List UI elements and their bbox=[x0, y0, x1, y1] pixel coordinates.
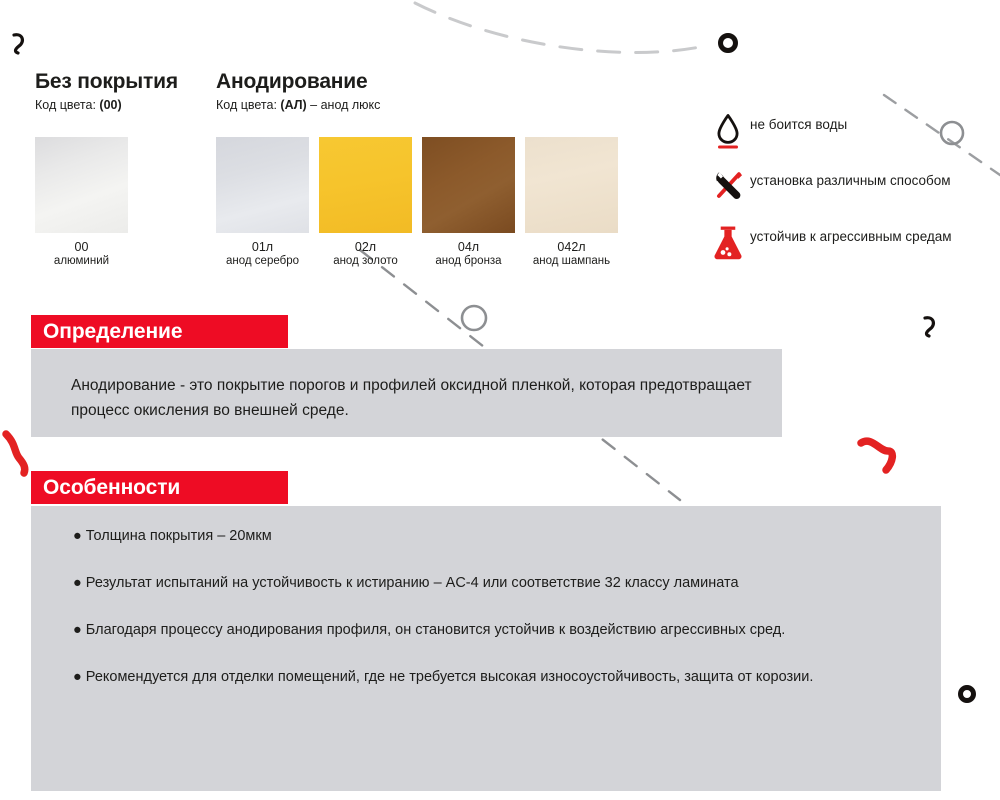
swatch-code: 02л bbox=[319, 240, 412, 254]
dashed-curve-top bbox=[415, 3, 700, 53]
squiggle-top-left bbox=[14, 35, 22, 53]
swatch-item-02l[interactable]: 02л анод золото bbox=[319, 137, 412, 267]
ring-outline-middle bbox=[462, 306, 486, 330]
flask-icon bbox=[706, 220, 750, 264]
group-code-prefix: Код цвета: bbox=[35, 98, 99, 112]
group-heading-anodizing: Анодирование Код цвета: (АЛ) – анод люкс bbox=[216, 70, 380, 112]
panel-definition: Анодирование - это покрытие порогов и пр… bbox=[31, 349, 782, 437]
swatch-item-01l[interactable]: 01л анод серебро bbox=[216, 137, 309, 267]
panel-specials: ● Толщина покрытия – 20мкм ● Результат и… bbox=[31, 506, 941, 791]
group-code-prefix: Код цвета: bbox=[216, 98, 280, 112]
feature-label: устойчив к агрессивным средам bbox=[750, 220, 952, 245]
group-heading-plain: Без покрытия Код цвета: (00) bbox=[35, 70, 178, 112]
feature-list: не боится воды установка различным спосо… bbox=[706, 108, 996, 276]
squiggle-red-right bbox=[861, 441, 892, 470]
list-item: ● Рекомендуется для отделки помещений, г… bbox=[73, 665, 953, 690]
swatch-row-plain: 00 алюминий bbox=[35, 137, 128, 267]
ring-dot-top-right bbox=[721, 36, 736, 51]
feature-chemical-resistant: устойчив к агрессивным средам bbox=[706, 220, 996, 264]
list-item: ● Толщина покрытия – 20мкм bbox=[73, 524, 953, 549]
swatch-code: 042л bbox=[525, 240, 618, 254]
swatch-color-01l[interactable] bbox=[216, 137, 309, 233]
group-code-value: (00) bbox=[99, 98, 121, 112]
list-item: ● Результат испытаний на устойчивость к … bbox=[73, 571, 953, 596]
feature-label: не боится воды bbox=[750, 108, 847, 133]
section-tag-definition: Определение bbox=[31, 315, 288, 348]
swatch-color-00[interactable] bbox=[35, 137, 128, 233]
squiggle-right-mid bbox=[925, 318, 933, 336]
swatch-name: алюминий bbox=[35, 255, 128, 267]
ring-dot-bottom-right bbox=[961, 688, 974, 701]
group-code-suffix: – анод люкс bbox=[307, 98, 381, 112]
swatch-color-042l[interactable] bbox=[525, 137, 618, 233]
water-drop-icon bbox=[706, 108, 750, 152]
swatch-code: 04л bbox=[422, 240, 515, 254]
swatch-item-042l[interactable]: 042л анод шампань bbox=[525, 137, 618, 267]
group-code-value: (АЛ) bbox=[280, 98, 306, 112]
swatch-name: анод шампань bbox=[525, 255, 618, 267]
feature-multiple-install: установка различным способом bbox=[706, 164, 996, 208]
swatch-code: 00 bbox=[35, 240, 128, 254]
section-tag-specials: Особенности bbox=[31, 471, 288, 504]
swatch-name: анод золото bbox=[319, 255, 412, 267]
feature-water-resistant: не боится воды bbox=[706, 108, 996, 152]
swatch-name: анод серебро bbox=[216, 255, 309, 267]
swatch-item-04l[interactable]: 04л анод бронза bbox=[422, 137, 515, 267]
group-color-code: Код цвета: (00) bbox=[35, 98, 178, 112]
feature-label: установка различным способом bbox=[750, 164, 951, 189]
tools-wrench-screwdriver-icon bbox=[706, 164, 750, 208]
swatch-code: 01л bbox=[216, 240, 309, 254]
group-color-code: Код цвета: (АЛ) – анод люкс bbox=[216, 98, 380, 112]
group-title: Без покрытия bbox=[35, 70, 178, 94]
swatch-color-04l[interactable] bbox=[422, 137, 515, 233]
swatch-item-00[interactable]: 00 алюминий bbox=[35, 137, 128, 267]
swatch-color-02l[interactable] bbox=[319, 137, 412, 233]
swatch-name: анод бронза bbox=[422, 255, 515, 267]
squiggle-red-left bbox=[6, 434, 25, 473]
definition-body: Анодирование - это покрытие порогов и пр… bbox=[71, 373, 791, 423]
specials-list: ● Толщина покрытия – 20мкм ● Результат и… bbox=[73, 524, 953, 712]
list-item: ● Благодаря процессу анодирования профил… bbox=[73, 618, 953, 643]
page-root: Без покрытия Код цвета: (00) Анодировани… bbox=[0, 0, 1000, 800]
swatch-row-anodizing: 01л анод серебро 02л анод золото 04л ано… bbox=[216, 137, 618, 267]
group-title: Анодирование bbox=[216, 70, 380, 94]
